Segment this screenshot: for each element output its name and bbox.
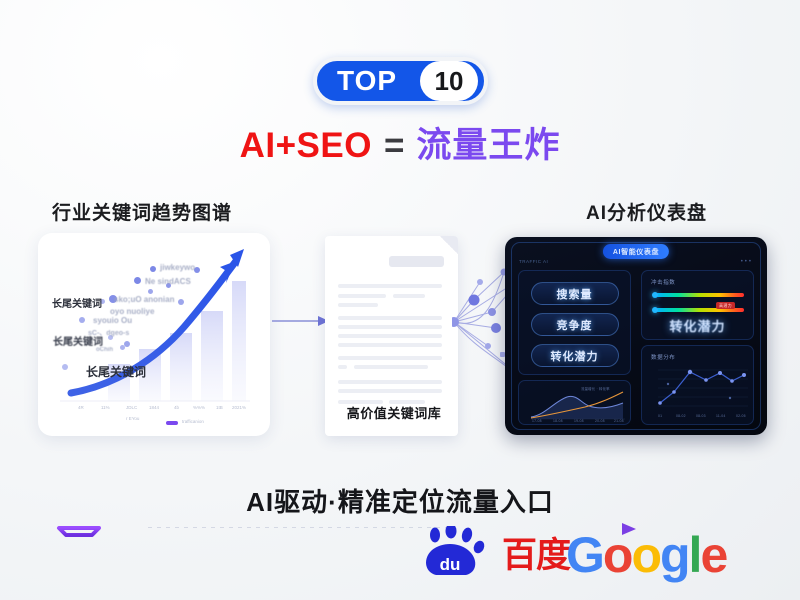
svg-text:du: du xyxy=(440,555,461,574)
dashboard-header-badge: AI智能仪表盘 xyxy=(603,244,669,259)
doc-text-line xyxy=(338,284,442,288)
blurred-label: syouio Ou xyxy=(93,316,132,325)
doc-text-line xyxy=(338,343,442,347)
x-tick: 11-04 xyxy=(716,414,725,418)
play-arrow-icon xyxy=(618,520,640,540)
x-tick: 18-08 xyxy=(553,419,563,423)
gauge-panel-title: 冲击指数 xyxy=(651,278,675,286)
scatter-dot xyxy=(178,299,184,305)
x-tick: 1844 xyxy=(149,405,159,410)
blurred-label: sko;uO anonian xyxy=(114,295,174,304)
headline-left: AI+SEO xyxy=(240,126,372,165)
x-tick: 4b xyxy=(174,405,179,410)
doc-text-line xyxy=(354,365,428,369)
blurred-label: oyo nuoliye xyxy=(110,307,154,316)
scatter-dot xyxy=(134,277,141,284)
google-letter-e: e xyxy=(700,527,726,583)
blurred-label: Ne sindACS xyxy=(145,277,191,286)
document-caption: 高价值关键词库 xyxy=(329,403,459,422)
distribution-chart-panel: 数据分布 01 08-02 08-03 11 xyxy=(641,345,754,425)
gauge-knob[interactable] xyxy=(652,307,658,313)
doc-text-line xyxy=(338,294,386,298)
scatter-dot xyxy=(62,364,68,370)
metric-pill-competition[interactable]: 竞争度 xyxy=(531,313,619,336)
baidu-wordmark: 百度 xyxy=(502,538,570,573)
x-tick: 19-08 xyxy=(574,419,584,423)
growth-area-panel: 流量增长 · 转化率 17-08 18-08 19-08 20-08 21-08 xyxy=(518,380,631,425)
metric-pill-panel: 搜索量 竞争度 转化潜力 xyxy=(518,270,631,375)
x-tick: 17-08 xyxy=(532,419,542,423)
x-tick: 20-08 xyxy=(595,419,605,423)
gauge-overlay-text: 转化潜力 xyxy=(669,316,725,335)
keyword-trend-card: jiwkeywo Ne sindACS sko;uO anonian oyo n… xyxy=(38,233,270,436)
keyword-label: 长尾关键词 xyxy=(86,363,146,380)
keyword-label: 长尾关键词 xyxy=(53,333,103,348)
doc-text-line xyxy=(338,365,347,369)
search-engine-logos: du 百度 Google xyxy=(418,520,748,584)
google-letter-g2: g xyxy=(660,527,689,583)
gauge-knob[interactable] xyxy=(652,292,658,298)
trend-chart: jiwkeywo Ne sindACS sko;uO anonian oyo n… xyxy=(38,233,270,436)
doc-text-line xyxy=(338,303,378,307)
top-rank-badge: TOP 10 xyxy=(313,57,488,105)
x-tick: JDLC xyxy=(126,405,137,410)
page-fold-corner xyxy=(440,236,458,254)
metric-pill-conversion[interactable]: 转化潜力 xyxy=(531,344,619,367)
legend-label: trafficanion xyxy=(182,419,204,424)
gauge-panel: 冲击指数 高潜力 转化潜力 xyxy=(641,270,754,340)
doc-text-line xyxy=(338,389,442,393)
top-badge-word: TOP xyxy=(317,67,420,95)
headline-equals: = xyxy=(384,126,404,165)
doc-text-line xyxy=(338,325,442,329)
x-axis-label: r EYou xyxy=(126,416,139,421)
footer-divider xyxy=(148,527,448,528)
footer-tagline: AI驱动·精准定位流量入口 xyxy=(0,482,800,519)
google-letter-l: l xyxy=(689,527,701,583)
gauge-status-tag: 高潜力 xyxy=(716,302,735,309)
doc-header-block xyxy=(389,256,444,267)
poster-canvas: TOP 10 AI+SEO=流量王炸 行业关键词趋势图谱 AI分析仪表盘 xyxy=(0,0,800,600)
left-section-caption: 行业关键词趋势图谱 xyxy=(52,198,232,225)
google-wordmark: Google xyxy=(566,530,726,580)
flow-arrow-1 xyxy=(272,313,330,329)
doc-text-line xyxy=(338,334,442,338)
bar-chart-icon xyxy=(52,484,110,542)
blurred-label: jiwkeywo xyxy=(160,263,195,272)
area-legend: 流量增长 · 转化率 xyxy=(581,386,610,391)
x-tick: 01 xyxy=(658,414,662,418)
x-tick: 08-03 xyxy=(696,414,706,418)
scatter-dot xyxy=(79,317,85,323)
top-badge-number: 10 xyxy=(420,61,478,101)
gauge-bar-primary xyxy=(656,293,744,297)
x-tick: 4R xyxy=(78,405,84,410)
keyword-label: 长尾关键词 xyxy=(52,295,102,310)
right-section-caption: AI分析仪表盘 xyxy=(586,198,707,225)
x-tick: %%% xyxy=(193,405,205,410)
scatter-dot xyxy=(120,345,125,350)
x-tick: 08-02 xyxy=(676,414,686,418)
x-tick: 2021% xyxy=(232,405,246,410)
baidu-paw-icon: du xyxy=(418,526,498,582)
page-title: AI+SEO=流量王炸 xyxy=(0,128,800,163)
scatter-dot xyxy=(150,266,156,272)
google-letter-g1: G xyxy=(566,527,603,583)
doc-text-line xyxy=(338,380,442,384)
doc-text-line xyxy=(338,316,442,320)
metric-pill-search-volume[interactable]: 搜索量 xyxy=(531,282,619,305)
doc-text-line xyxy=(393,294,425,298)
x-tick: 11% xyxy=(101,405,110,410)
x-tick: 21-08 xyxy=(614,419,624,423)
more-options-icon[interactable]: ••• xyxy=(741,259,753,265)
legend-swatch xyxy=(166,421,178,425)
x-tick: 02-05 xyxy=(736,414,746,418)
doc-text-line xyxy=(338,356,442,360)
headline-right: 流量王炸 xyxy=(416,126,560,165)
dashboard-brand-label: TRAFFIC AI xyxy=(519,259,548,264)
scatter-dot xyxy=(148,289,153,294)
ai-dashboard: AI智能仪表盘 TRAFFIC AI ••• 搜索量 竞争度 转化潜力 冲击指数… xyxy=(505,237,767,435)
x-tick: 1tB xyxy=(216,405,223,410)
